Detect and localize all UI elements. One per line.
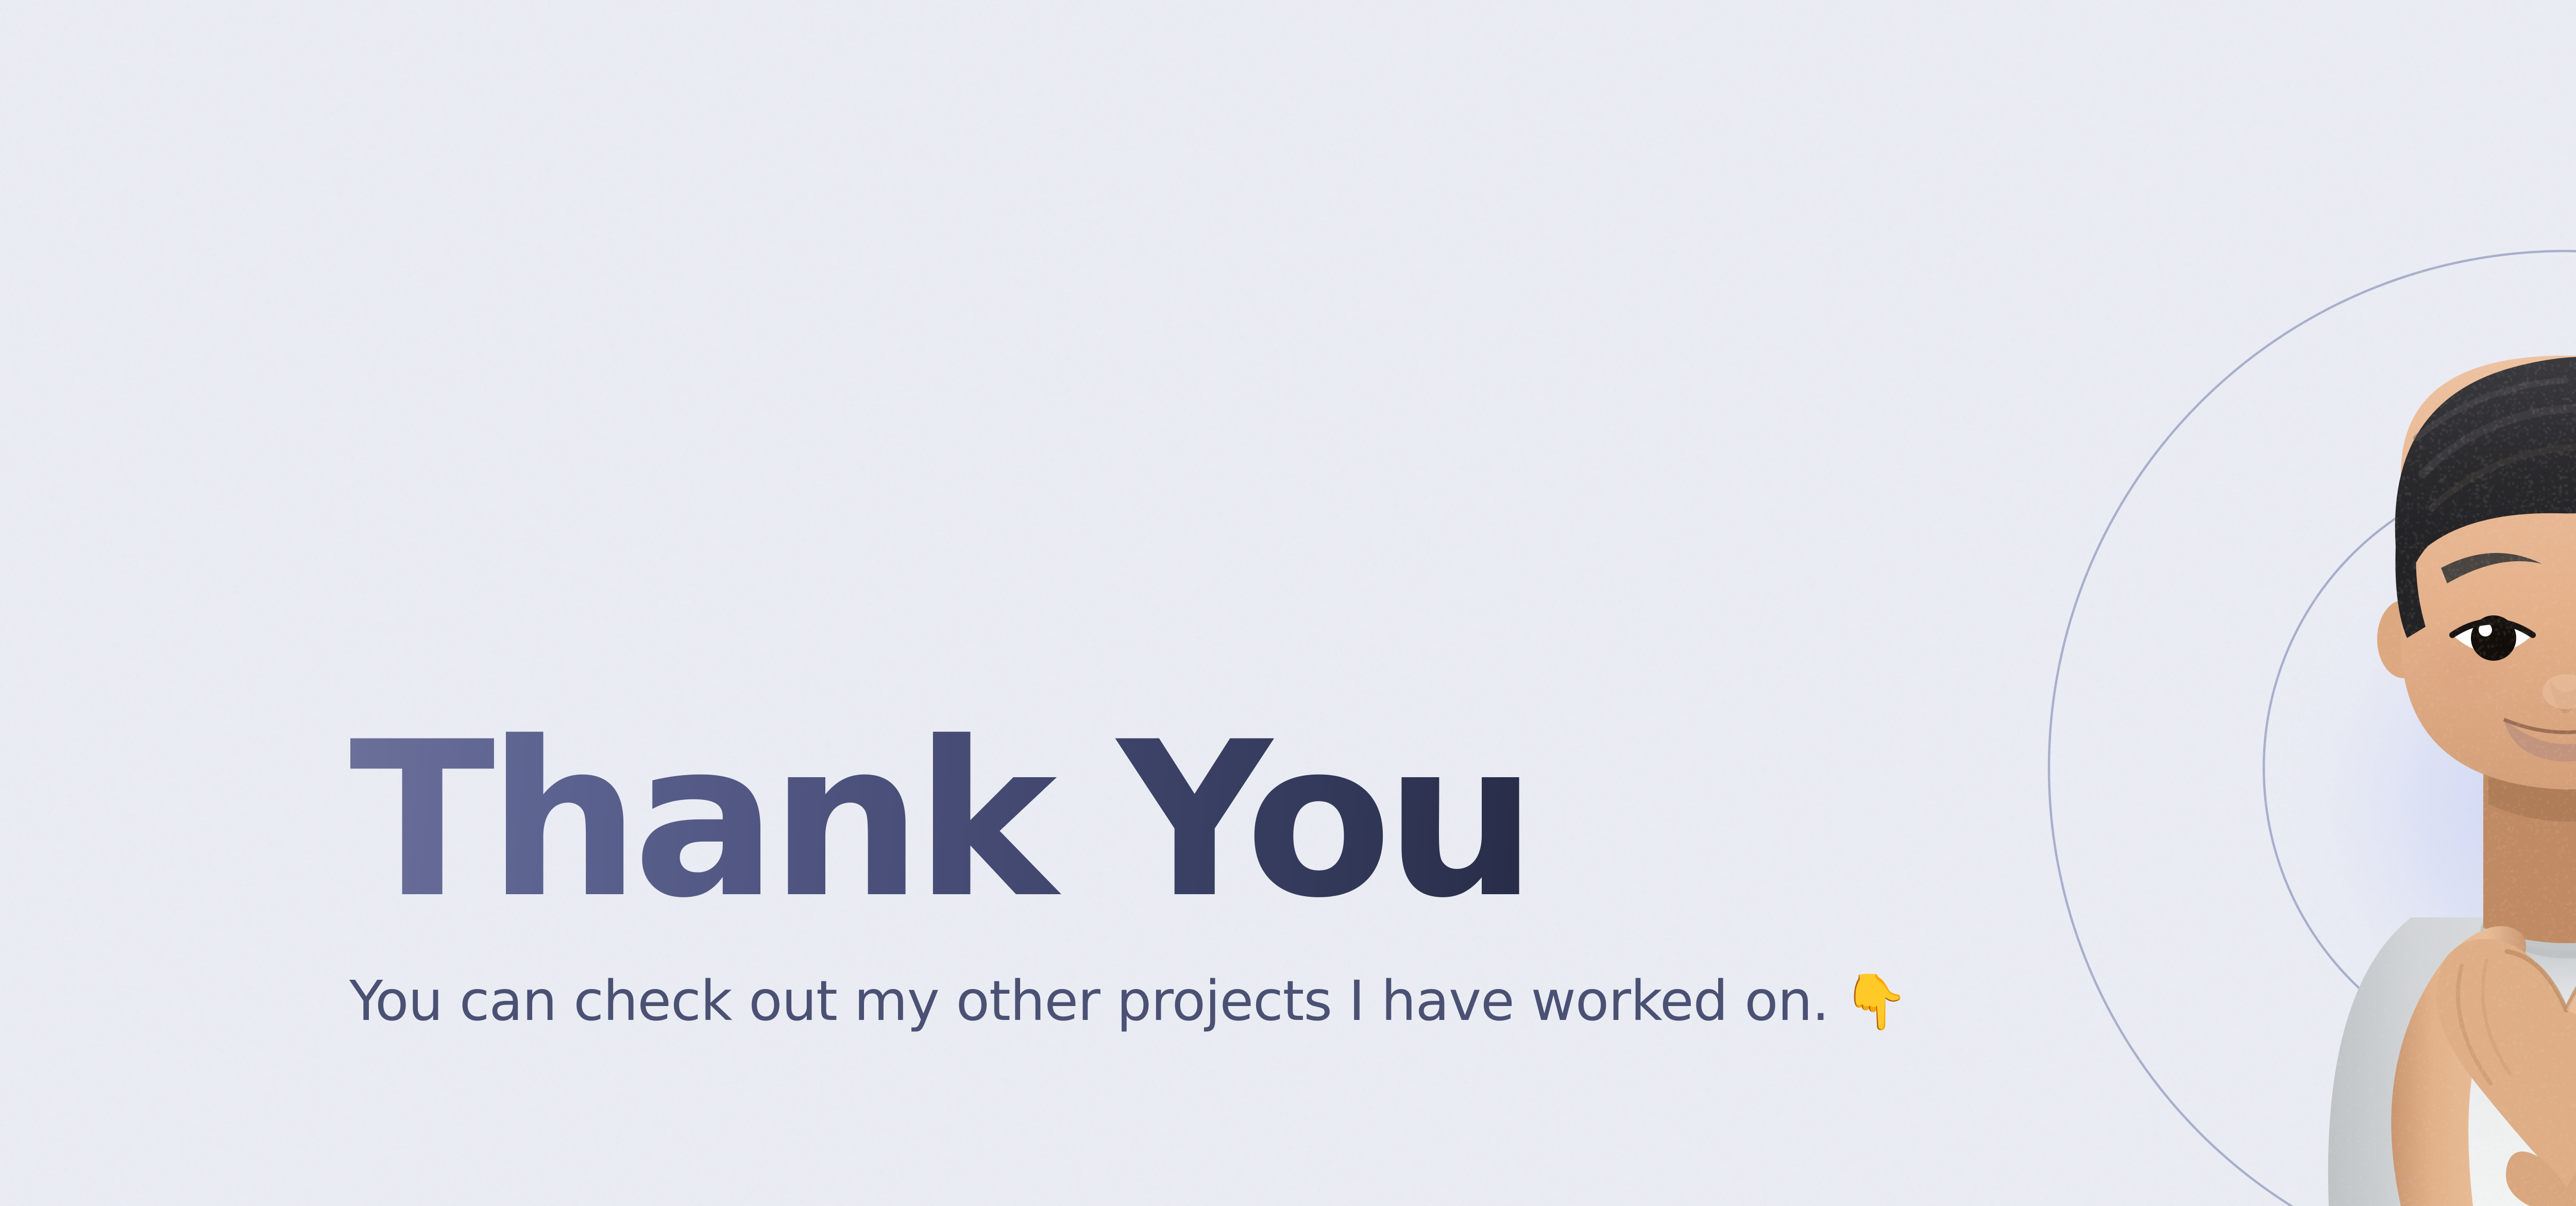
closing-copy-block: Thank You You can check out my other pro… (349, 711, 1895, 1033)
backhand-index-pointing-down-icon: 👇 (1842, 975, 1908, 1028)
page-subtitle-text: You can check out my other projects I ha… (349, 969, 1829, 1033)
page-subtitle: You can check out my other projects I ha… (349, 969, 1895, 1033)
page-title: Thank You (349, 711, 1895, 929)
avatar (2040, 186, 2576, 1206)
